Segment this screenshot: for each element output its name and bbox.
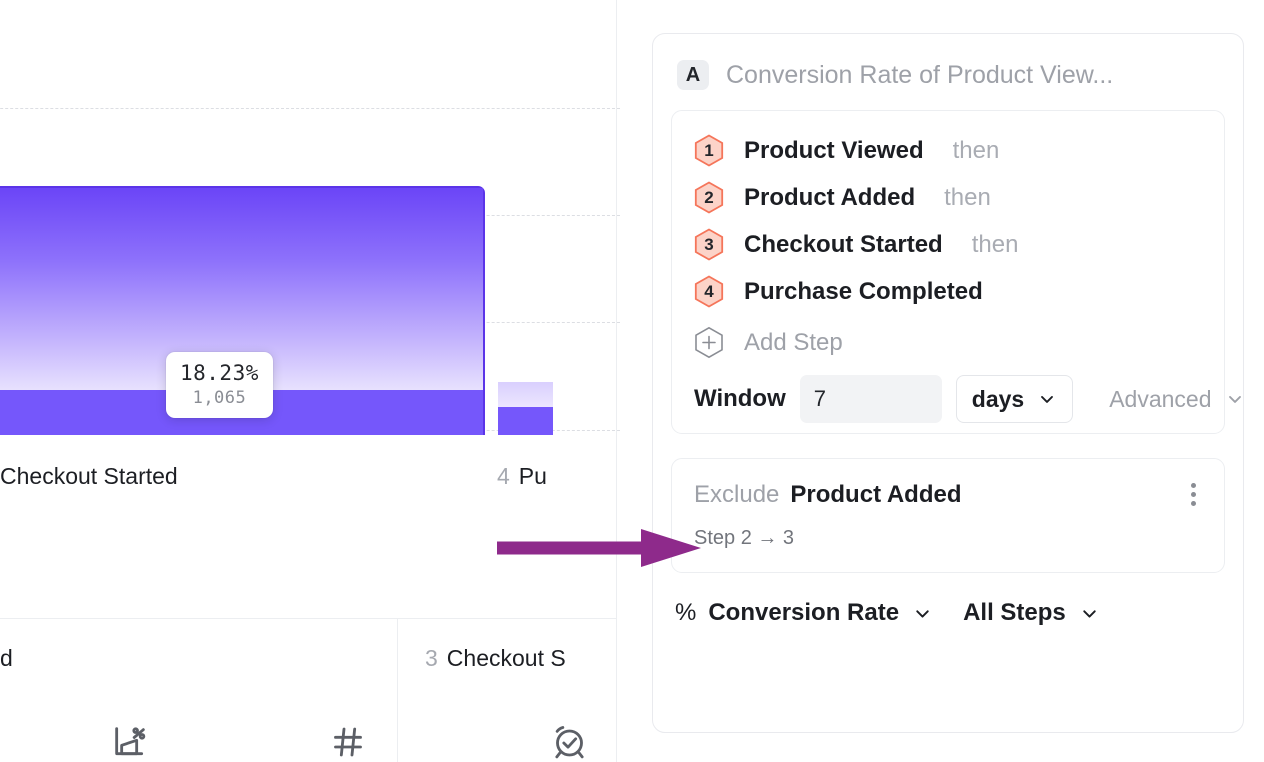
hash-icon[interactable] — [328, 722, 368, 762]
annotation-arrow — [497, 528, 701, 568]
chevron-down-icon — [912, 603, 933, 624]
exclude-step-range: Step 2 → 3 — [694, 527, 1202, 550]
advanced-label: Advanced — [1109, 386, 1211, 413]
chart-tooltip: 18.23% 1,065 — [166, 352, 273, 418]
add-step-label: Add Step — [744, 329, 843, 357]
steps-list: 1 Product Viewed then 2 Product Added th… — [671, 110, 1225, 434]
window-label: Window — [694, 385, 786, 413]
bottom-label-text: Checkout S — [447, 645, 566, 671]
advanced-toggle[interactable]: Advanced — [1109, 386, 1244, 413]
bar-base-purchase-completed — [498, 407, 553, 435]
add-step-button[interactable]: Add Step — [672, 315, 1224, 363]
bottom-label-index: 3 — [425, 645, 438, 671]
step-event-name: Checkout Started — [744, 231, 943, 259]
step-event-name: Product Viewed — [744, 137, 924, 165]
exclude-rule-header: Exclude Product Added — [694, 479, 1202, 510]
step-event-name: Product Added — [744, 184, 915, 212]
chevron-down-icon — [1079, 603, 1100, 624]
funnel-chart-plot — [0, 90, 620, 435]
bottom-label-text: d — [0, 645, 13, 671]
axis-label-text: Pu — [519, 463, 547, 489]
window-row: Window days Advanced — [672, 363, 1224, 423]
step-number-hexagon-icon: 3 — [694, 228, 724, 261]
step-number-label: 4 — [694, 275, 724, 308]
axis-label-index: 4 — [497, 463, 510, 489]
bottom-card-label-right[interactable]: 3Checkout S — [425, 645, 566, 672]
funnel-config-card: A Conversion Rate of Product View... 1 P… — [652, 33, 1244, 733]
scope-select[interactable]: All Steps — [963, 599, 1100, 627]
step-number-hexagon-icon: 2 — [694, 181, 724, 214]
tooltip-count: 1,065 — [180, 388, 259, 408]
step-item-2[interactable]: 2 Product Added then — [672, 174, 1224, 221]
percent-icon: % — [675, 599, 696, 627]
step-number-hexagon-icon: 1 — [694, 134, 724, 167]
config-title[interactable]: Conversion Rate of Product View... — [726, 61, 1113, 90]
step-number-label: 3 — [694, 228, 724, 261]
step-item-1[interactable]: 1 Product Viewed then — [672, 127, 1224, 174]
step-item-4[interactable]: 4 Purchase Completed — [672, 268, 1224, 315]
axis-label-purchase-completed[interactable]: 4Pu — [497, 463, 547, 490]
step-connector: then — [944, 184, 991, 212]
step-item-3[interactable]: 3 Checkout Started then — [672, 221, 1224, 268]
step-number-label: 2 — [694, 181, 724, 214]
tooltip-percent: 18.23% — [180, 361, 259, 385]
window-unit-label: days — [972, 386, 1024, 413]
step-event-name: Purchase Completed — [744, 278, 983, 306]
exclude-target-event: Product Added — [790, 481, 961, 509]
config-footer-row: % Conversion Rate All Steps — [653, 573, 1243, 627]
bottom-card-label-left[interactable]: d — [0, 645, 13, 672]
plus-hexagon-icon — [694, 326, 724, 359]
axis-label-text: Checkout Started — [0, 463, 178, 489]
app-root: 18.23% 1,065 Checkout Started 4Pu d 3Che… — [0, 0, 1264, 762]
pane-vertical-divider — [616, 0, 617, 762]
exclude-rule-card[interactable]: Exclude Product Added Step 2 → 3 — [671, 458, 1225, 573]
chevron-down-icon — [1037, 389, 1057, 409]
funnel-percent-chart-icon[interactable] — [109, 722, 151, 762]
pane-horizontal-divider — [0, 618, 617, 619]
chevron-down-icon — [1225, 389, 1245, 409]
exclude-prefix-label: Exclude — [694, 481, 779, 509]
gridline — [0, 108, 620, 109]
chart-pane: 18.23% 1,065 Checkout Started 4Pu d 3Che… — [0, 0, 617, 762]
scope-label: All Steps — [963, 599, 1066, 627]
step-number-hexagon-icon: 4 — [694, 275, 724, 308]
metric-select[interactable]: Conversion Rate — [708, 599, 933, 627]
alarm-check-icon[interactable] — [549, 722, 590, 762]
pane-inner-vertical-divider — [397, 619, 398, 762]
step-number-label: 1 — [694, 134, 724, 167]
axis-label-checkout-started[interactable]: Checkout Started — [0, 463, 178, 490]
step-connector: then — [953, 137, 1000, 165]
window-unit-select[interactable]: days — [956, 375, 1073, 423]
series-badge-a[interactable]: A — [677, 60, 709, 90]
config-title-row[interactable]: A Conversion Rate of Product View... — [653, 34, 1243, 110]
metric-label: Conversion Rate — [708, 599, 899, 627]
kebab-menu-icon[interactable] — [1185, 479, 1202, 510]
step-connector: then — [972, 231, 1019, 259]
window-value-input[interactable] — [800, 375, 942, 423]
